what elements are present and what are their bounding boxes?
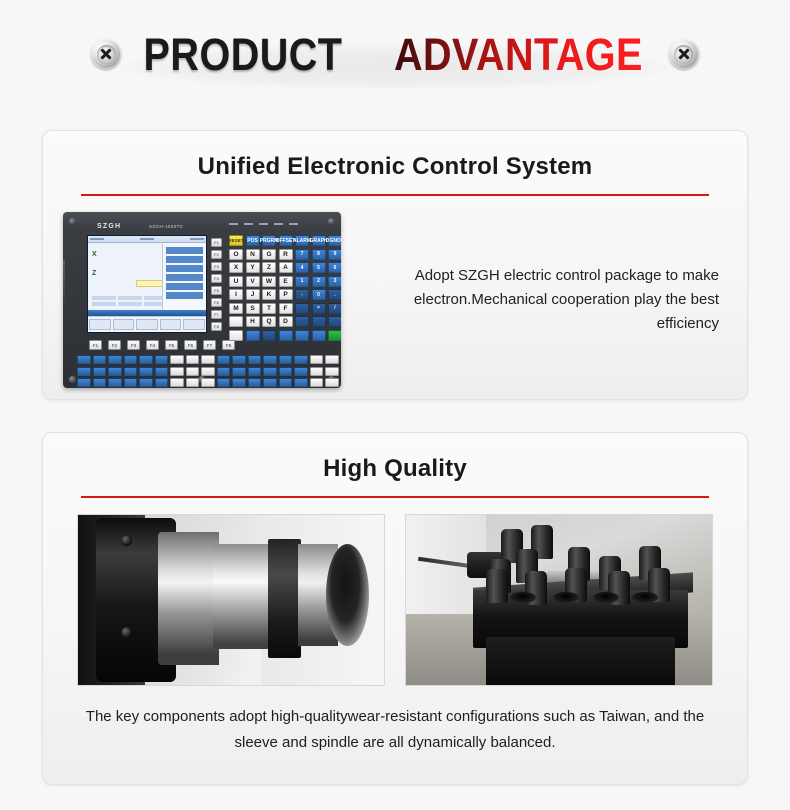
panel-screw-icon <box>69 376 76 383</box>
operation-key <box>186 378 200 387</box>
screen-side-row <box>166 283 203 290</box>
cnc-key: PRGRM <box>262 235 276 246</box>
operation-key <box>155 367 169 376</box>
card-title: High Quality <box>43 433 747 483</box>
cnc-key <box>295 303 309 314</box>
cnc-key: P <box>279 289 293 300</box>
cnc-key: H <box>246 316 260 327</box>
cnc-key <box>246 330 260 341</box>
turret-hole <box>510 592 536 603</box>
operation-key <box>325 367 339 376</box>
keypad-led-strip <box>229 223 298 225</box>
operation-key <box>232 378 246 387</box>
operation-key <box>139 378 153 387</box>
cnc-key: - <box>295 289 309 300</box>
cnc-key: 3 <box>328 276 341 287</box>
cnc-key: U <box>229 276 243 287</box>
soft-key: F6 <box>211 298 222 307</box>
status-tick <box>140 238 154 240</box>
operation-key <box>294 378 308 387</box>
cnc-key: N <box>246 249 260 260</box>
screen-soft-key <box>183 319 205 330</box>
operation-key <box>139 367 153 376</box>
operation-key <box>155 355 169 364</box>
cnc-model-label: SZGH-1000TC <box>149 224 183 229</box>
screen-side-row <box>166 256 203 263</box>
soft-key: F8 <box>211 322 222 331</box>
cnc-key <box>262 330 276 341</box>
led-indicator <box>289 223 298 225</box>
screen-soft-key <box>160 319 182 330</box>
operation-key <box>217 355 231 364</box>
screw-x-icon-left <box>91 39 121 69</box>
photo-row <box>43 498 747 686</box>
cnc-key: 8 <box>312 249 326 260</box>
operation-key <box>139 355 153 364</box>
spindle-ring <box>268 539 302 658</box>
function-key-row: F1 F2 F3 F4 F5 F6 F7 F8 <box>89 340 235 350</box>
operation-key <box>155 378 169 387</box>
cnc-key: 9 <box>328 249 341 260</box>
screen-soft-key <box>113 319 135 330</box>
screen-side-row <box>166 265 203 272</box>
operation-key <box>201 378 215 387</box>
cnc-brand-label: SZGH <box>97 223 121 230</box>
panel-side-bracket <box>63 260 65 302</box>
operation-key <box>108 355 122 364</box>
cnc-key: O <box>229 249 243 260</box>
card-body: SZGH SZGH-1000TC X 0.000 Z 0.000 <box>43 196 747 388</box>
turret-hole <box>632 592 658 603</box>
screen-side-text <box>163 243 206 245</box>
cnc-key: I <box>229 289 243 300</box>
operation-key <box>186 355 200 364</box>
cnc-key <box>279 330 293 341</box>
screen-cell <box>118 302 142 306</box>
status-tick <box>90 238 104 240</box>
function-key: F8 <box>222 340 235 350</box>
tool-turret-photo <box>405 514 713 686</box>
operation-key <box>124 355 138 364</box>
function-key: F1 <box>89 340 102 350</box>
cnc-key: X <box>229 262 243 273</box>
operation-key <box>279 355 293 364</box>
cnc-key: 2 <box>312 276 326 287</box>
screw-core <box>674 45 693 64</box>
cnc-key: ALARM <box>295 235 309 246</box>
page-header: PRODUCT ADVANTAGE <box>0 0 790 108</box>
operation-key <box>248 378 262 387</box>
card-unified-electronic-control-system: Unified Electronic Control System SZGH S… <box>42 130 748 400</box>
soft-key: F2 <box>211 250 222 259</box>
operation-key <box>341 378 342 387</box>
operation-key <box>186 367 200 376</box>
cnc-key: / <box>328 303 341 314</box>
operation-key <box>263 378 277 387</box>
operation-key <box>263 355 277 364</box>
operation-key <box>232 367 246 376</box>
operation-key <box>263 367 277 376</box>
cnc-key <box>328 330 341 341</box>
screen-cell <box>118 296 142 300</box>
cnc-key: = <box>312 303 326 314</box>
operation-key <box>310 378 324 387</box>
cnc-key: J <box>246 289 260 300</box>
cnc-display-screen: X 0.000 Z 0.000 <box>87 235 207 333</box>
cnc-key: 0 <box>312 289 326 300</box>
card-description: Adopt SZGH electric control package to m… <box>341 264 727 337</box>
screen-status-bar <box>88 236 206 243</box>
function-key: F6 <box>184 340 197 350</box>
cnc-key: POS <box>246 235 260 246</box>
cnc-key: OFFSET <box>279 235 293 246</box>
cnc-key: M <box>229 303 243 314</box>
cnc-key <box>295 330 309 341</box>
screen-side-row <box>166 292 203 299</box>
panel-screw-icon <box>328 218 335 225</box>
card-caption: The key components adopt high-qualitywea… <box>43 686 747 756</box>
panel-screw-icon <box>69 218 76 225</box>
cnc-key: F <box>279 303 293 314</box>
cnc-key: 4 <box>295 262 309 273</box>
turret-base <box>486 637 676 685</box>
cnc-key: 1 <box>295 276 309 287</box>
cnc-key: 6 <box>328 262 341 273</box>
machine-operation-keypad <box>77 355 341 387</box>
led-indicator <box>229 223 238 225</box>
soft-key-column: F1 F2 F3 F4 F5 F6 F7 F8 <box>211 238 222 331</box>
cnc-key: Z <box>262 262 276 273</box>
axis-label-z: Z <box>92 270 96 277</box>
cnc-key: S <box>246 303 260 314</box>
operation-key <box>77 355 91 364</box>
card-title: Unified Electronic Control System <box>43 131 747 181</box>
page-title-black: PRODUCT <box>144 32 343 77</box>
spindle-sleeve-photo <box>77 514 385 686</box>
operation-key <box>248 367 262 376</box>
led-indicator <box>244 223 253 225</box>
cnc-key <box>229 316 243 327</box>
cnc-key: DGNOS <box>328 235 341 246</box>
operation-key <box>124 367 138 376</box>
operation-key <box>294 367 308 376</box>
axis-label-x: X <box>92 251 97 258</box>
tool-holder <box>486 569 508 603</box>
screen-soft-key <box>136 319 158 330</box>
operation-key <box>77 367 91 376</box>
header-title-group: PRODUCT ADVANTAGE <box>91 32 699 77</box>
led-indicator <box>274 223 283 225</box>
operation-key <box>248 355 262 364</box>
operation-key <box>93 355 107 364</box>
spindle-taper <box>158 532 219 665</box>
soft-key: F4 <box>211 274 222 283</box>
cnc-key: E <box>279 276 293 287</box>
operation-key <box>217 378 231 387</box>
status-tick <box>190 238 204 240</box>
operation-key <box>170 355 184 364</box>
operation-key <box>325 378 339 387</box>
operation-key <box>93 378 107 387</box>
operation-key <box>279 378 293 387</box>
cnc-key: R <box>279 249 293 260</box>
function-key: F3 <box>127 340 140 350</box>
spindle-bore <box>326 544 369 646</box>
operation-key <box>108 367 122 376</box>
soft-key: F7 <box>211 310 222 319</box>
page-title-red: ADVANTAGE <box>394 32 643 77</box>
soft-key: F1 <box>211 238 222 247</box>
cnc-key: 5 <box>312 262 326 273</box>
operation-key <box>201 355 215 364</box>
cnc-key: G <box>262 249 276 260</box>
cnc-key: GRAPH <box>312 235 326 246</box>
cnc-key: A <box>279 262 293 273</box>
cnc-key <box>328 316 341 327</box>
operation-key <box>341 367 342 376</box>
bolt-icon <box>121 627 132 638</box>
function-key: F7 <box>203 340 216 350</box>
function-key: F5 <box>165 340 178 350</box>
cnc-key <box>295 316 309 327</box>
operation-key <box>217 367 231 376</box>
soft-key: F5 <box>211 286 222 295</box>
operation-key <box>341 355 342 364</box>
operation-key <box>310 355 324 364</box>
cnc-key: . <box>328 289 341 300</box>
operation-key <box>124 378 138 387</box>
screen-soft-key <box>89 319 111 330</box>
cnc-controller-panel: SZGH SZGH-1000TC X 0.000 Z 0.000 <box>63 212 341 388</box>
screen-soft-key-bar <box>88 316 206 332</box>
led-indicator <box>259 223 268 225</box>
cnc-key: K <box>262 289 276 300</box>
screw-x-icon-right <box>669 39 699 69</box>
cnc-key: W <box>262 276 276 287</box>
screw-core <box>97 45 116 64</box>
screen-side-row <box>166 274 203 281</box>
function-key: F2 <box>108 340 121 350</box>
cnc-key: D <box>279 316 293 327</box>
operation-key <box>170 367 184 376</box>
operation-key <box>325 355 339 364</box>
cnc-key <box>312 330 326 341</box>
turret-hole <box>593 592 619 603</box>
operation-key <box>108 378 122 387</box>
cnc-key: Y <box>246 262 260 273</box>
cnc-key: RESET <box>229 235 243 246</box>
turret-hole <box>553 592 579 603</box>
cnc-key <box>312 316 326 327</box>
operation-key <box>294 355 308 364</box>
screen-side-row <box>166 247 203 254</box>
function-key: F4 <box>146 340 159 350</box>
cnc-key <box>229 330 243 341</box>
operation-key <box>77 378 91 387</box>
cnc-key: V <box>246 276 260 287</box>
operation-key <box>93 367 107 376</box>
soft-key: F3 <box>211 262 222 271</box>
operation-key <box>232 355 246 364</box>
cnc-keypad: RESETPOSPRGRMOFFSETALARMGRAPHDGNOSONGR78… <box>229 235 341 341</box>
operation-key <box>170 378 184 387</box>
screen-cell <box>92 302 116 306</box>
cnc-key: 7 <box>295 249 309 260</box>
operation-key <box>279 367 293 376</box>
operation-key <box>201 367 215 376</box>
card-high-quality: High Quality <box>42 432 748 785</box>
screen-cell <box>92 296 116 300</box>
cnc-key: T <box>262 303 276 314</box>
operation-key <box>310 367 324 376</box>
cnc-key: Q <box>262 316 276 327</box>
